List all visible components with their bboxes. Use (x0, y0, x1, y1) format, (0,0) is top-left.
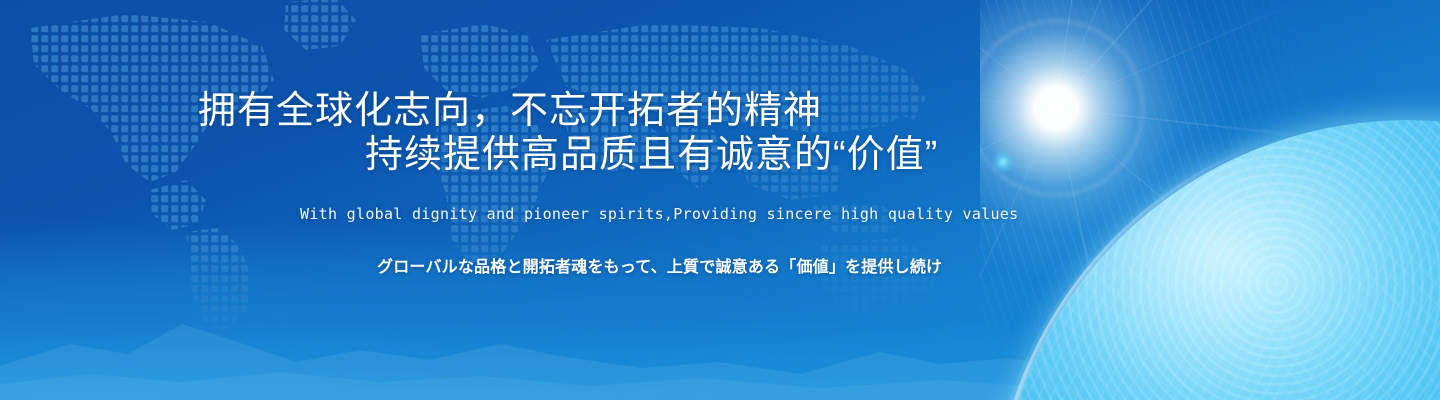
hero-banner: 拥有全球化志向，不忘开拓者的精神 持续提供高品质且有诚意的“价值” With g… (0, 0, 1440, 400)
lens-flare-dot-icon (992, 151, 1014, 173)
planet-scene (980, 0, 1440, 400)
